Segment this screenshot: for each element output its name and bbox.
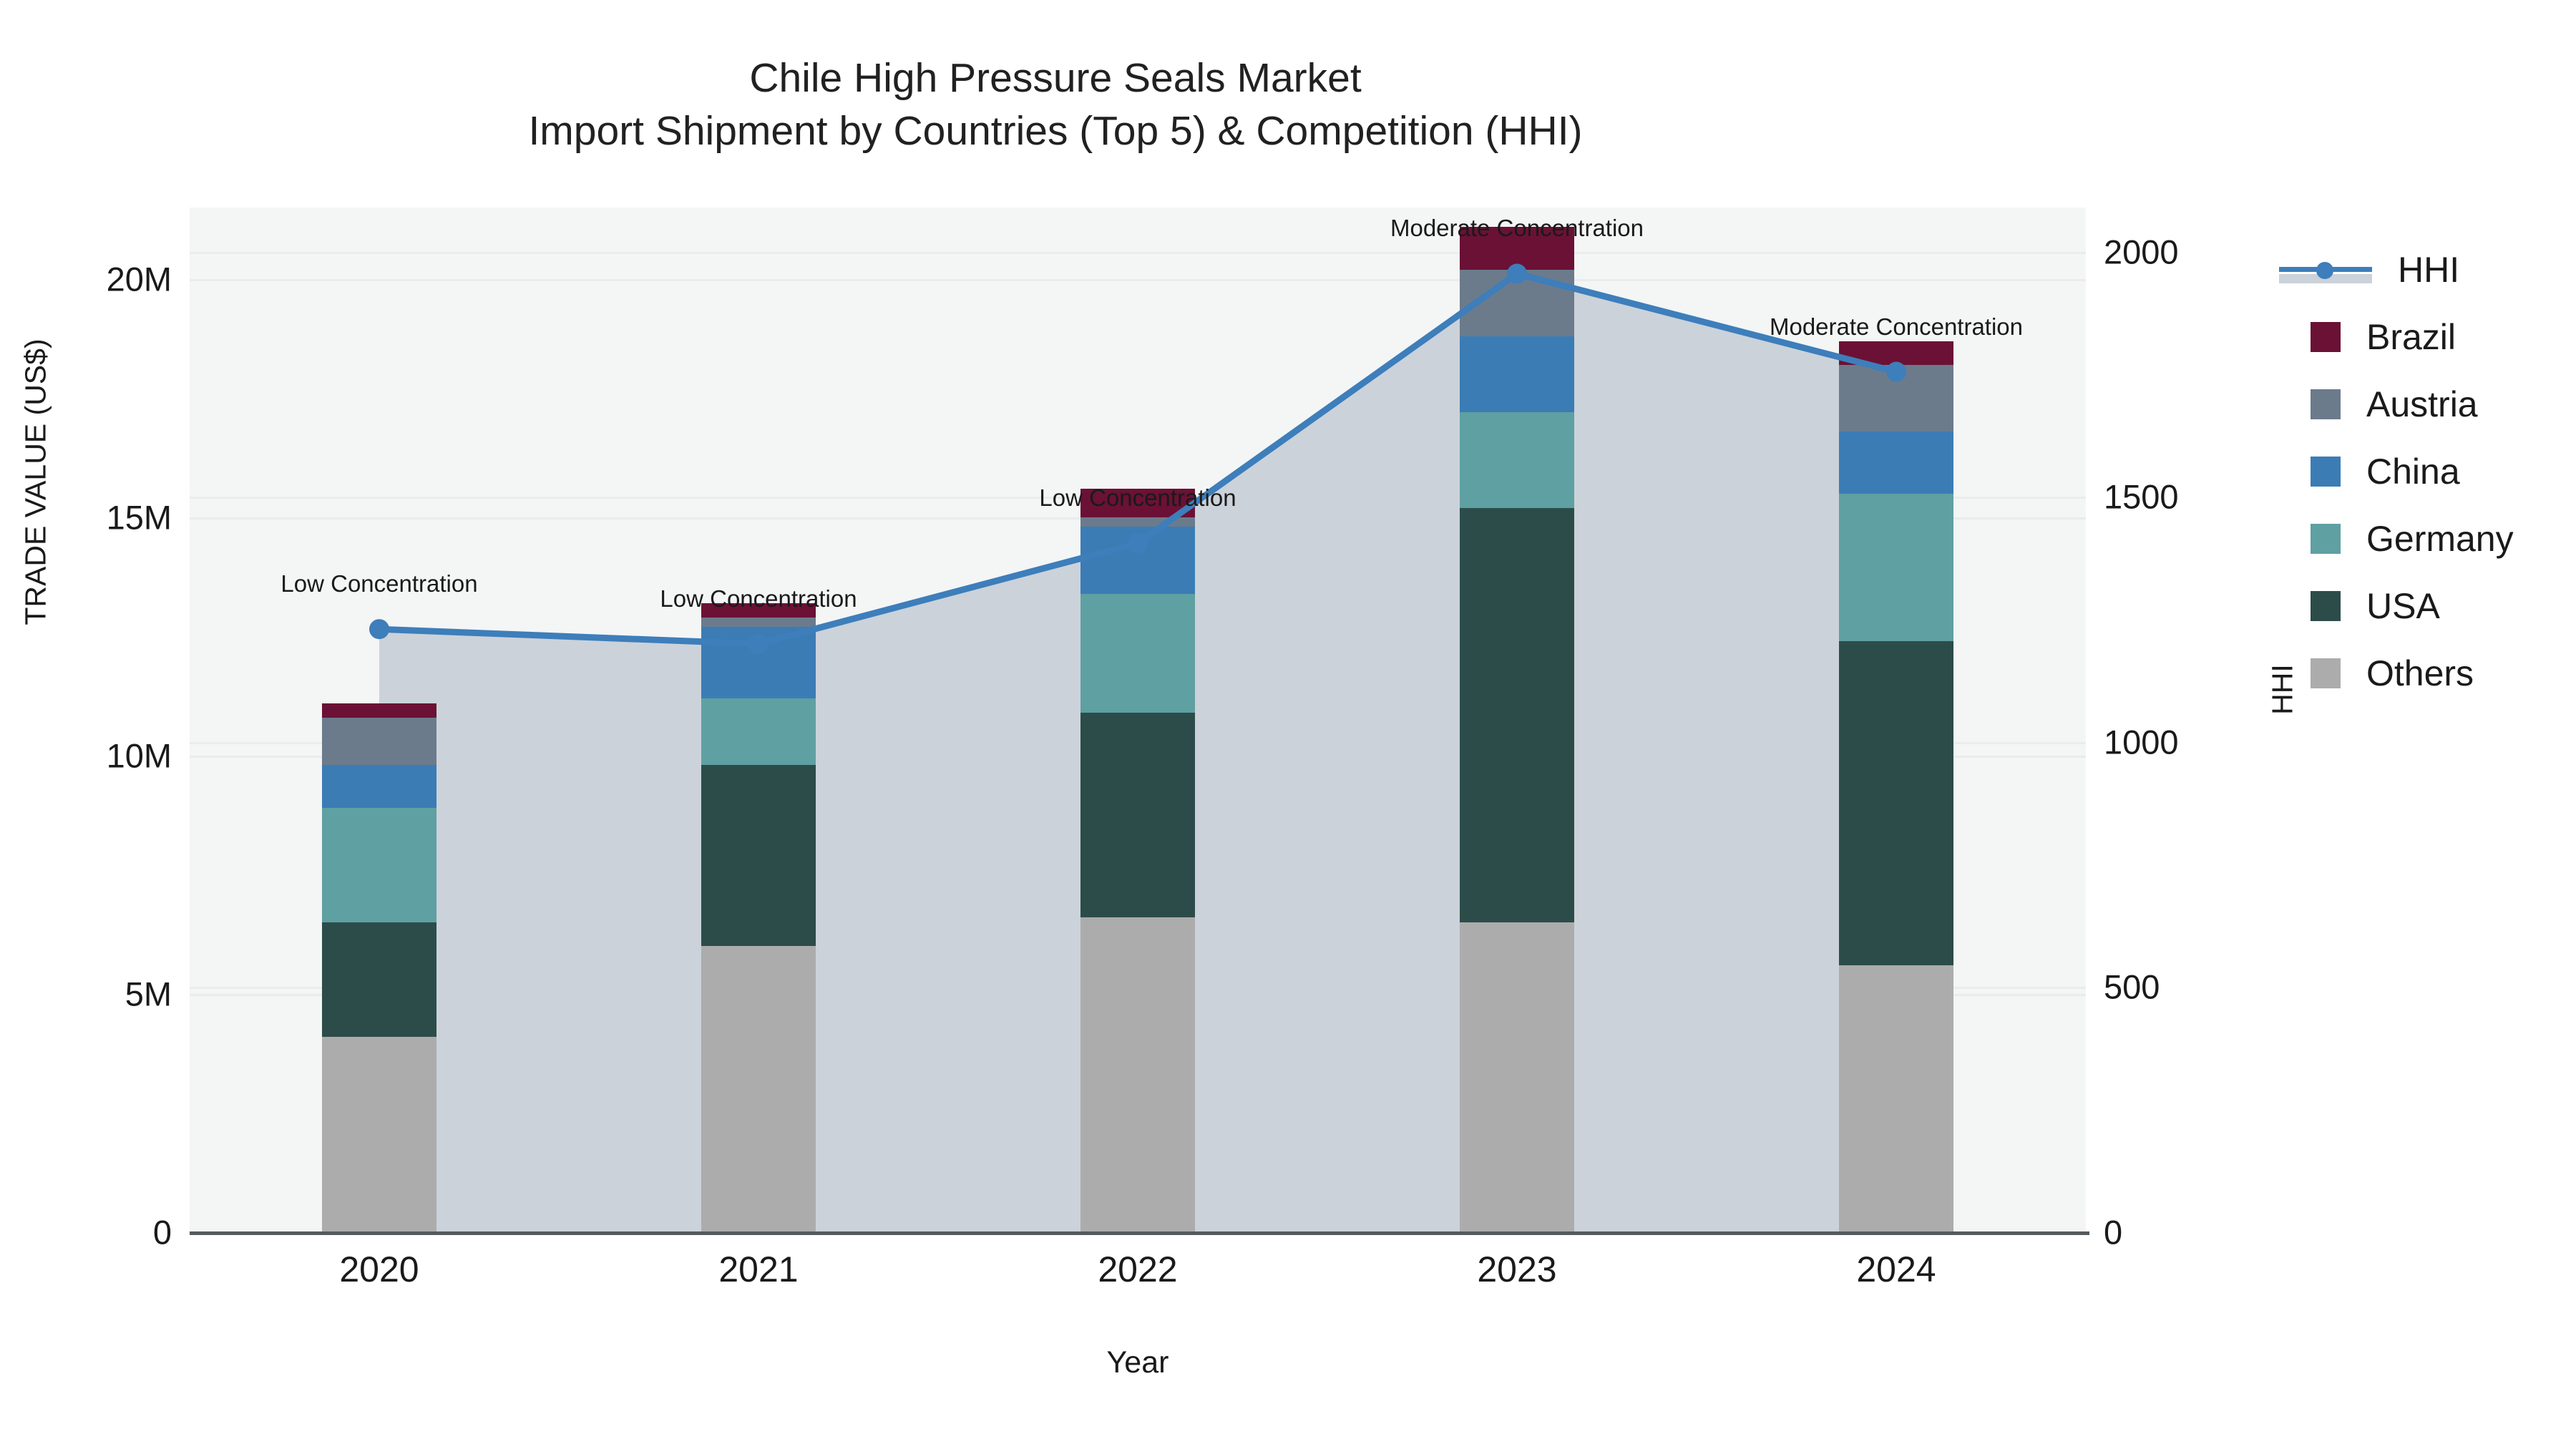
legend-swatch bbox=[2311, 591, 2341, 621]
legend-label: USA bbox=[2366, 585, 2440, 627]
bar-segment[interactable] bbox=[322, 703, 436, 718]
concentration-annotation: Low Concentration bbox=[660, 585, 857, 613]
y-axis-left-tick: 0 bbox=[7, 1213, 172, 1252]
bar-segment[interactable] bbox=[1839, 431, 1953, 494]
legend-line-dot bbox=[2316, 262, 2333, 279]
chart-legend: HHIBrazilAustriaChinaGermanyUSAOthers bbox=[2279, 236, 2514, 707]
concentration-annotation: Low Concentration bbox=[280, 570, 477, 597]
bar-segment[interactable] bbox=[701, 698, 816, 765]
y-axis-right-tick: 0 bbox=[2104, 1213, 2122, 1252]
y-axis-right-tick: 1500 bbox=[2104, 477, 2179, 517]
bar-segment[interactable] bbox=[1460, 508, 1574, 922]
bar-segment[interactable] bbox=[701, 627, 816, 698]
bar-group[interactable] bbox=[701, 208, 816, 1232]
plot-inner bbox=[190, 208, 2086, 1232]
x-axis-tick: 2021 bbox=[651, 1249, 866, 1290]
legend-line-marker bbox=[2279, 255, 2372, 285]
bar-segment[interactable] bbox=[1080, 517, 1195, 527]
bar-segment[interactable] bbox=[1839, 641, 1953, 965]
y-axis-left-tick: 10M bbox=[7, 736, 172, 775]
legend-swatch bbox=[2311, 322, 2341, 352]
concentration-annotation: Moderate Concentration bbox=[1770, 313, 2023, 341]
legend-swatch bbox=[2311, 658, 2341, 688]
x-axis-tick: 2022 bbox=[1030, 1249, 1245, 1290]
plot-area bbox=[190, 208, 2086, 1232]
legend-label: Others bbox=[2366, 653, 2474, 694]
bar-segment[interactable] bbox=[322, 808, 436, 922]
bar-segment[interactable] bbox=[701, 946, 816, 1232]
legend-label: China bbox=[2366, 451, 2460, 492]
legend-item[interactable]: HHI bbox=[2279, 236, 2514, 303]
concentration-annotation: Low Concentration bbox=[1039, 484, 1236, 512]
chart-title-line-2: Import Shipment by Countries (Top 5) & C… bbox=[0, 104, 2111, 157]
bar-segment[interactable] bbox=[1460, 336, 1574, 413]
bar-segment[interactable] bbox=[1080, 594, 1195, 713]
bar-segment[interactable] bbox=[322, 922, 436, 1037]
legend-item[interactable]: China bbox=[2279, 438, 2514, 505]
bar-segment[interactable] bbox=[1460, 270, 1574, 336]
y-axis-left-tick: 5M bbox=[7, 974, 172, 1013]
x-axis-line bbox=[190, 1231, 2089, 1235]
bar-segment[interactable] bbox=[701, 765, 816, 946]
bar-segment[interactable] bbox=[701, 618, 816, 627]
bar-segment[interactable] bbox=[322, 718, 436, 766]
bar-segment[interactable] bbox=[1080, 917, 1195, 1232]
y-axis-left-label: TRADE VALUE (US$) bbox=[19, 232, 53, 733]
bar-group[interactable] bbox=[1839, 208, 1953, 1232]
x-axis-tick: 2023 bbox=[1410, 1249, 1624, 1290]
y-axis-right-tick: 500 bbox=[2104, 967, 2160, 1007]
legend-item[interactable]: USA bbox=[2279, 572, 2514, 640]
legend-swatch bbox=[2311, 389, 2341, 419]
legend-item[interactable]: Others bbox=[2279, 640, 2514, 707]
chart-page: Chile High Pressure Seals Market Import … bbox=[0, 0, 2576, 1449]
legend-label: HHI bbox=[2398, 249, 2459, 291]
legend-item[interactable]: Austria bbox=[2279, 371, 2514, 438]
bar-segment[interactable] bbox=[1839, 365, 1953, 431]
legend-label: Austria bbox=[2366, 384, 2478, 425]
x-axis-label: Year bbox=[190, 1345, 2086, 1380]
bar-segment[interactable] bbox=[1460, 922, 1574, 1232]
bar-group[interactable] bbox=[1460, 208, 1574, 1232]
bar-segment[interactable] bbox=[1460, 412, 1574, 507]
legend-swatch bbox=[2311, 524, 2341, 554]
legend-item[interactable]: Germany bbox=[2279, 505, 2514, 572]
bar-group[interactable] bbox=[322, 208, 436, 1232]
bar-segment[interactable] bbox=[1839, 965, 1953, 1232]
bar-segment[interactable] bbox=[322, 1037, 436, 1232]
bar-segment[interactable] bbox=[1839, 341, 1953, 365]
legend-swatch bbox=[2311, 457, 2341, 487]
bar-group[interactable] bbox=[1080, 208, 1195, 1232]
concentration-annotation: Moderate Concentration bbox=[1390, 215, 1644, 242]
x-axis-tick: 2024 bbox=[1789, 1249, 2004, 1290]
bar-segment[interactable] bbox=[1080, 713, 1195, 917]
y-axis-right-tick: 2000 bbox=[2104, 232, 2179, 271]
chart-title-line-1: Chile High Pressure Seals Market bbox=[0, 52, 2111, 104]
chart-title: Chile High Pressure Seals Market Import … bbox=[0, 52, 2111, 157]
bar-segment[interactable] bbox=[322, 765, 436, 808]
legend-label: Germany bbox=[2366, 518, 2514, 560]
y-axis-right-tick: 1000 bbox=[2104, 722, 2179, 761]
x-axis-tick: 2020 bbox=[272, 1249, 487, 1290]
bar-segment[interactable] bbox=[1080, 527, 1195, 593]
bar-segment[interactable] bbox=[1839, 494, 1953, 641]
legend-item[interactable]: Brazil bbox=[2279, 303, 2514, 371]
legend-label: Brazil bbox=[2366, 316, 2456, 358]
